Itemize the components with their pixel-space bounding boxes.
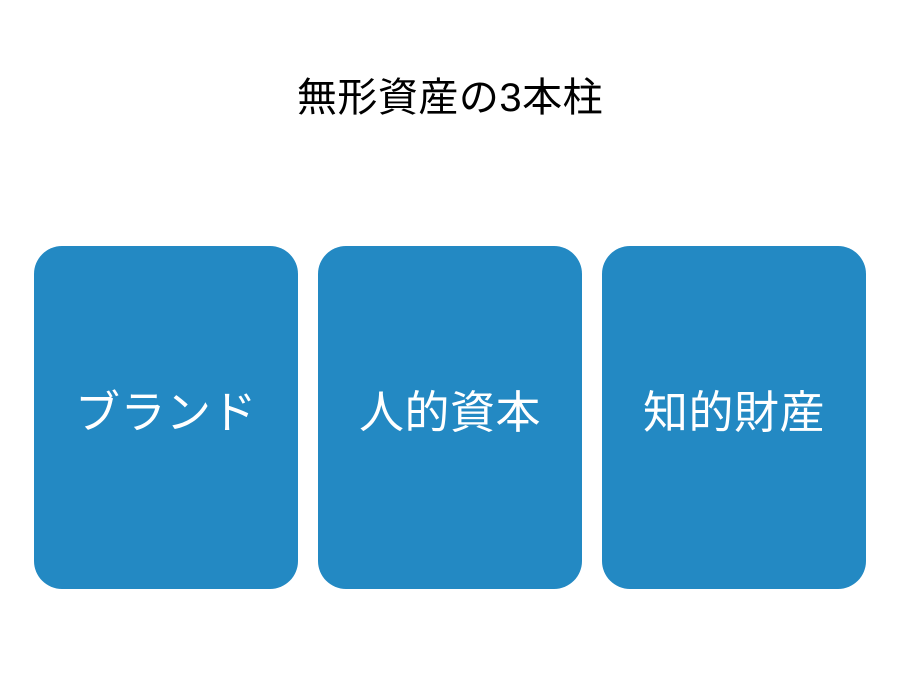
pillar-card-human-capital[interactable]: 人的資本 [318,246,582,589]
pillar-label: ブランド [75,390,257,435]
page-title: 無形資産の3本柱 [0,72,900,124]
pillar-group: ブランド 人的資本 知的財産 [34,246,866,589]
pillar-label: 知的財産 [643,390,825,435]
slide-canvas: 無形資産の3本柱 ブランド 人的資本 知的財産 [0,0,900,675]
pillar-label: 人的資本 [359,390,541,435]
pillar-card-intellectual-property[interactable]: 知的財産 [602,246,866,589]
pillar-card-brand[interactable]: ブランド [34,246,298,589]
